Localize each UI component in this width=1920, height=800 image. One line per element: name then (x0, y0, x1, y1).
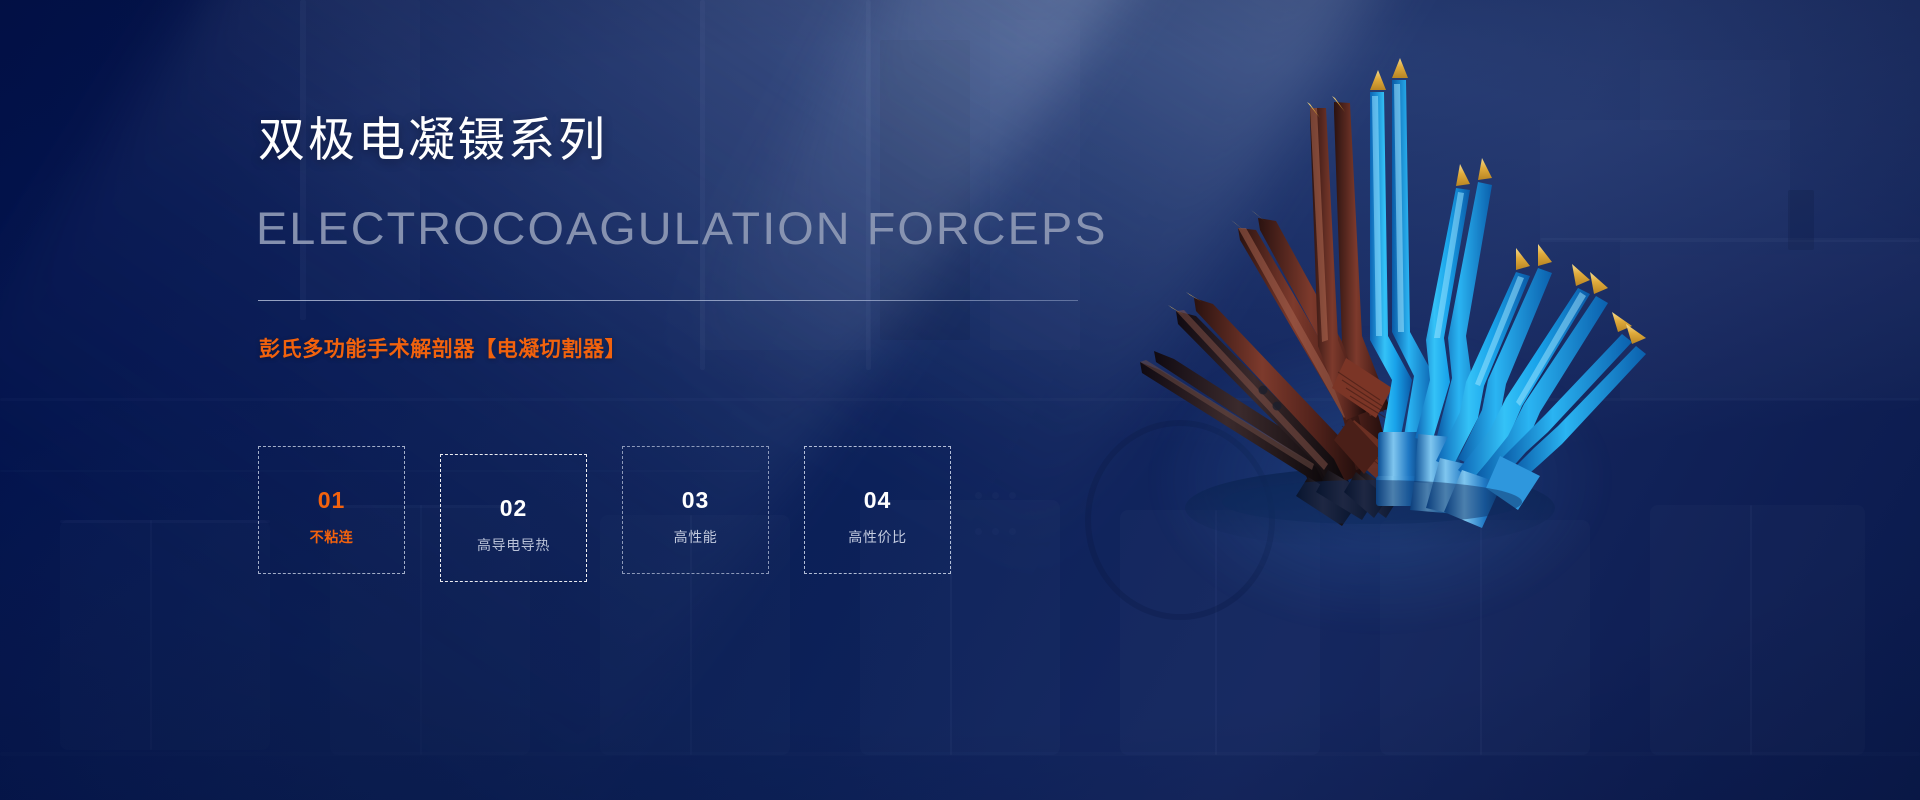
feature-number: 02 (441, 495, 586, 522)
feature-box-04[interactable]: 04 高性价比 (804, 446, 951, 574)
feature-box-02[interactable]: 02 高导电导热 (440, 454, 587, 582)
feature-number: 04 (805, 487, 950, 514)
feature-label: 高性价比 (805, 527, 950, 547)
feature-number: 01 (259, 487, 404, 514)
feature-label: 不粘连 (259, 527, 404, 547)
page-title: 双极电凝镊系列 (258, 116, 608, 163)
page-subtitle: ELECTROCOAGULATION FORCEPS (256, 206, 1108, 251)
feature-label: 高性能 (623, 527, 768, 547)
banner-content: 双极电凝镊系列 ELECTROCOAGULATION FORCEPS 彭氏多功能… (258, 0, 1158, 800)
product-tagline: 彭氏多功能手术解剖器【电凝切割器】 (259, 337, 626, 362)
feature-box-03[interactable]: 03 高性能 (622, 446, 769, 574)
feature-box-01[interactable]: 01 不粘连 (258, 446, 405, 574)
divider (258, 300, 1078, 301)
feature-box-group: 01 不粘连 02 高导电导热 03 高性能 04 高性价比 (258, 446, 1018, 596)
product-image-forceps-fan (1070, 40, 1690, 560)
feature-label: 高导电导热 (441, 535, 586, 555)
feature-number: 03 (623, 487, 768, 514)
banner-stage: 双极电凝镊系列 ELECTROCOAGULATION FORCEPS 彭氏多功能… (0, 0, 1920, 800)
